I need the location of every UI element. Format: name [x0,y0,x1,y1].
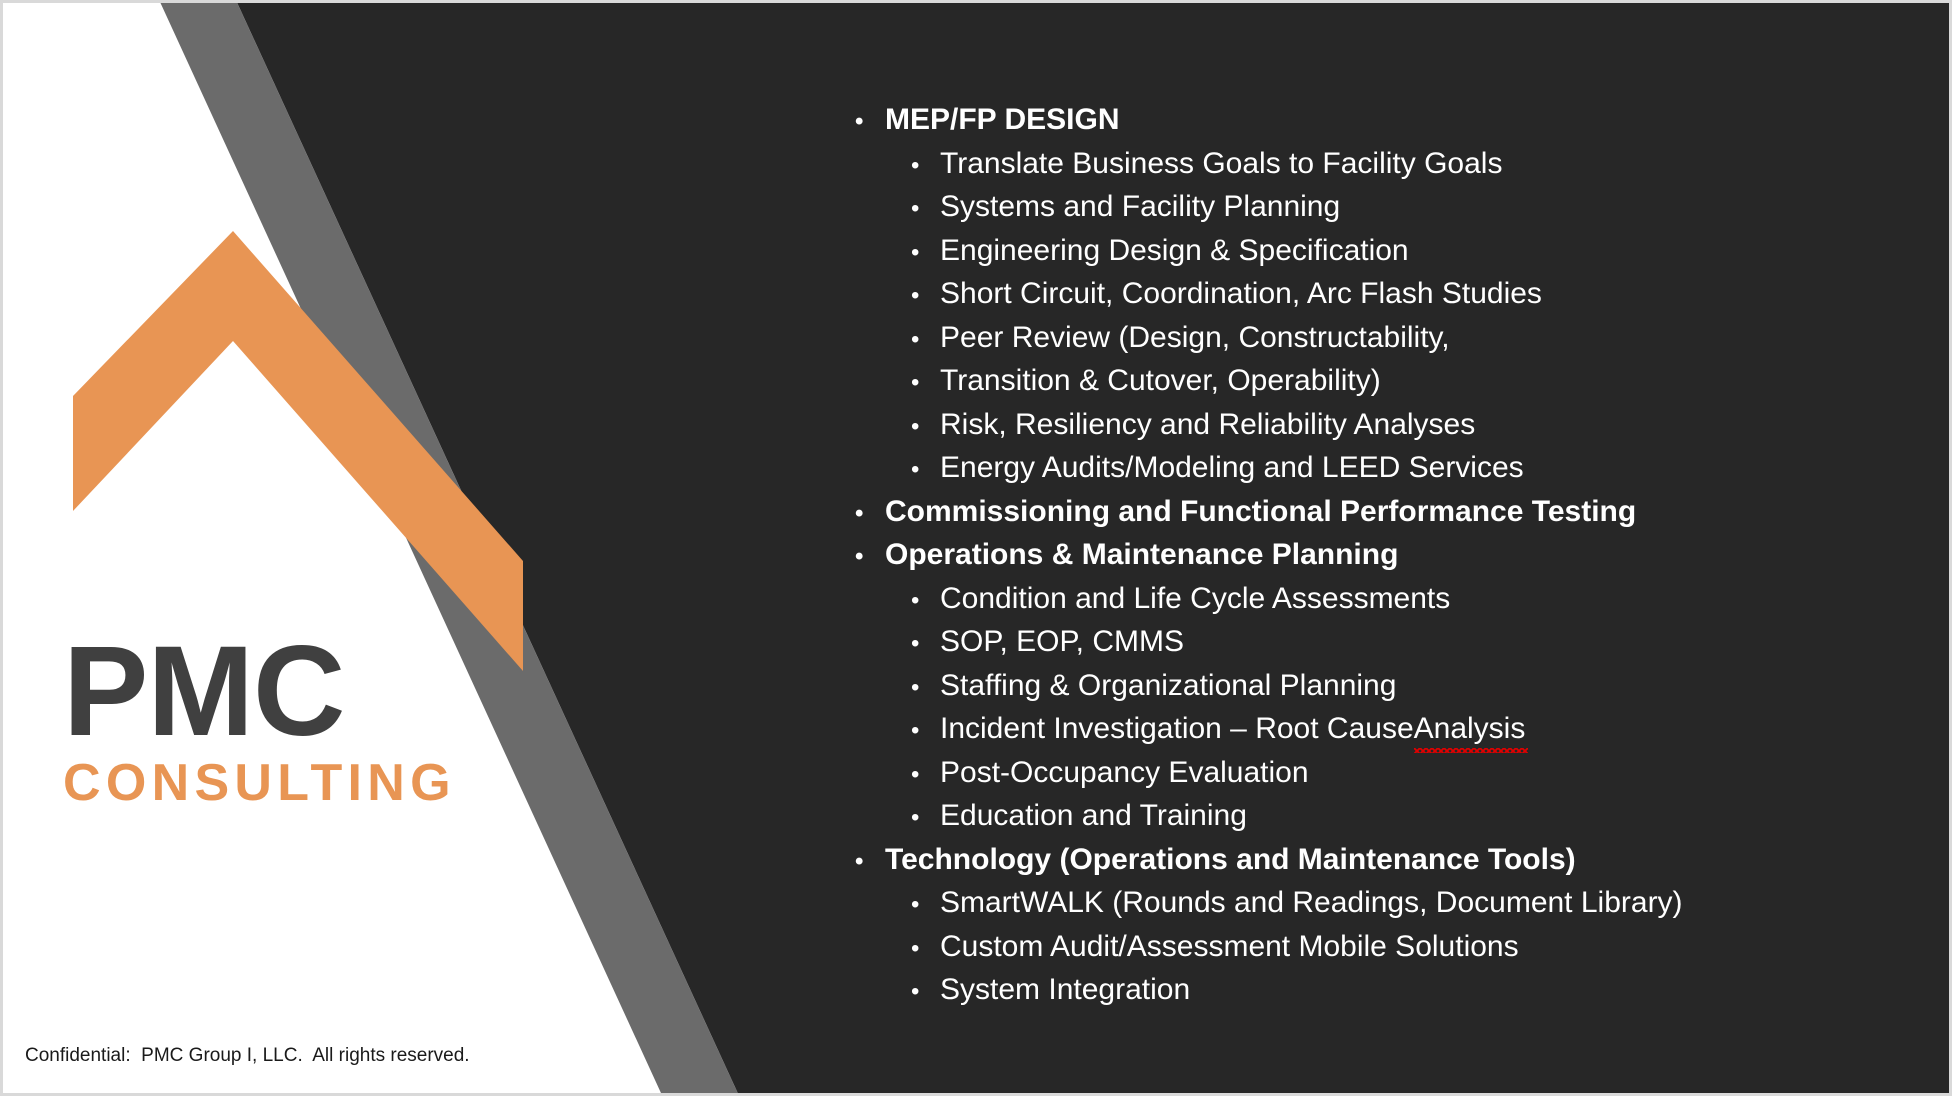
bullet-item-label: Post-Occupancy Evaluation [940,752,1309,794]
bullet-item-label: Systems and Facility Planning [940,186,1340,228]
bullet-dot-icon: • [911,797,940,839]
bullet-dot-icon: • [911,710,940,752]
bullet-item-label: Education and Training [940,795,1247,837]
bullet-dot-icon: • [855,101,885,143]
bullet-item-label: Peer Review (Design, Constructability, [940,317,1450,359]
bullet-dot-icon: • [855,536,885,578]
bullet-dot-icon: • [911,884,940,926]
bullet-item-label: System Integration [940,969,1190,1011]
bullet-item-level2: •Education and Training [843,795,1928,839]
bullet-item-level2: •Risk, Resiliency and Reliability Analys… [843,404,1928,448]
bullet-item-label: Incident Investigation – Root Cause [940,708,1414,750]
bullet-item-level2: •Staffing & Organizational Planning [843,665,1928,709]
bullet-dot-icon: • [911,580,940,622]
bullet-item-level2: •Post-Occupancy Evaluation [843,752,1928,796]
bullet-item-label: Short Circuit, Coordination, Arc Flash S… [940,273,1542,315]
bullet-item-level1: •Commissioning and Functional Performanc… [843,491,1928,535]
bullet-dot-icon: • [855,841,885,883]
bullet-dot-icon: • [855,493,885,535]
bullet-dot-icon: • [911,754,940,796]
bullet-item-label: Operations & Maintenance Planning [885,534,1398,576]
bullet-dot-icon: • [911,928,940,970]
logo-primary-text: PMC [63,631,456,753]
bullet-dot-icon: • [911,362,940,404]
bullet-dot-icon: • [911,406,940,448]
bullet-dot-icon: • [911,188,940,230]
bullet-item-level2: •Custom Audit/Assessment Mobile Solution… [843,926,1928,970]
bullet-item-level2: •Systems and Facility Planning [843,186,1928,230]
bullet-item-label: Custom Audit/Assessment Mobile Solutions [940,926,1519,968]
bullet-item-label: Risk, Resiliency and Reliability Analyse… [940,404,1475,446]
bullet-item-label: Commissioning and Functional Performance… [885,491,1636,533]
bullet-item-level2: •Engineering Design & Specification [843,230,1928,274]
bullet-dot-icon: • [911,971,940,1013]
bullet-item-level2: •Transition & Cutover, Operability) [843,360,1928,404]
bullet-dot-icon: • [911,667,940,709]
misspelled-word: Analysis [1414,708,1526,750]
bullet-item-level2: •Energy Audits/Modeling and LEED Service… [843,447,1928,491]
bullet-item-level2: •Peer Review (Design, Constructability, [843,317,1928,361]
slide-body-bullet-list: •MEP/FP DESIGN•Translate Business Goals … [843,99,1928,1013]
bullet-item-level1: •Technology (Operations and Maintenance … [843,839,1928,883]
bullet-dot-icon: • [911,449,940,491]
bullet-item-level1: •Operations & Maintenance Planning [843,534,1928,578]
bullet-item-label: Staffing & Organizational Planning [940,665,1396,707]
pmc-wordmark: PMC CONSULTING [63,631,456,812]
bullet-item-label: SmartWALK (Rounds and Readings, Document… [940,882,1683,924]
bullet-item-label: Engineering Design & Specification [940,230,1409,272]
bullet-item-label: MEP/FP DESIGN [885,99,1120,141]
bullet-item-level2: •Incident Investigation – Root Cause Ana… [843,708,1928,752]
pmc-chevron-logo-mark [63,231,523,671]
bullet-item-label: Condition and Life Cycle Assessments [940,578,1450,620]
bullet-dot-icon: • [911,275,940,317]
confidentiality-footer: Confidential: PMC Group I, LLC. All righ… [25,1045,470,1067]
bullet-dot-icon: • [911,623,940,665]
bullet-item-level2: •Short Circuit, Coordination, Arc Flash … [843,273,1928,317]
bullet-item-level2: •SmartWALK (Rounds and Readings, Documen… [843,882,1928,926]
presentation-slide: PMC CONSULTING •MEP/FP DESIGN•Translate … [0,0,1952,1096]
logo-secondary-text: CONSULTING [63,755,456,812]
bullet-item-label: Energy Audits/Modeling and LEED Services [940,447,1524,489]
bullet-item-level2: •Translate Business Goals to Facility Go… [843,143,1928,187]
bullet-item-level2: •System Integration [843,969,1928,1013]
bullet-dot-icon: • [911,232,940,274]
bullet-item-level2: •SOP, EOP, CMMS [843,621,1928,665]
bullet-dot-icon: • [911,319,940,361]
bullet-dot-icon: • [911,145,940,187]
bullet-item-label: Translate Business Goals to Facility Goa… [940,143,1502,185]
bullet-item-label: Transition & Cutover, Operability) [940,360,1381,402]
bullet-item-label: Technology (Operations and Maintenance T… [885,839,1576,881]
bullet-item-level1: •MEP/FP DESIGN [843,99,1928,143]
chevron-shape [73,231,523,671]
bullet-item-level2: •Condition and Life Cycle Assessments [843,578,1928,622]
bullet-item-label: SOP, EOP, CMMS [940,621,1184,663]
